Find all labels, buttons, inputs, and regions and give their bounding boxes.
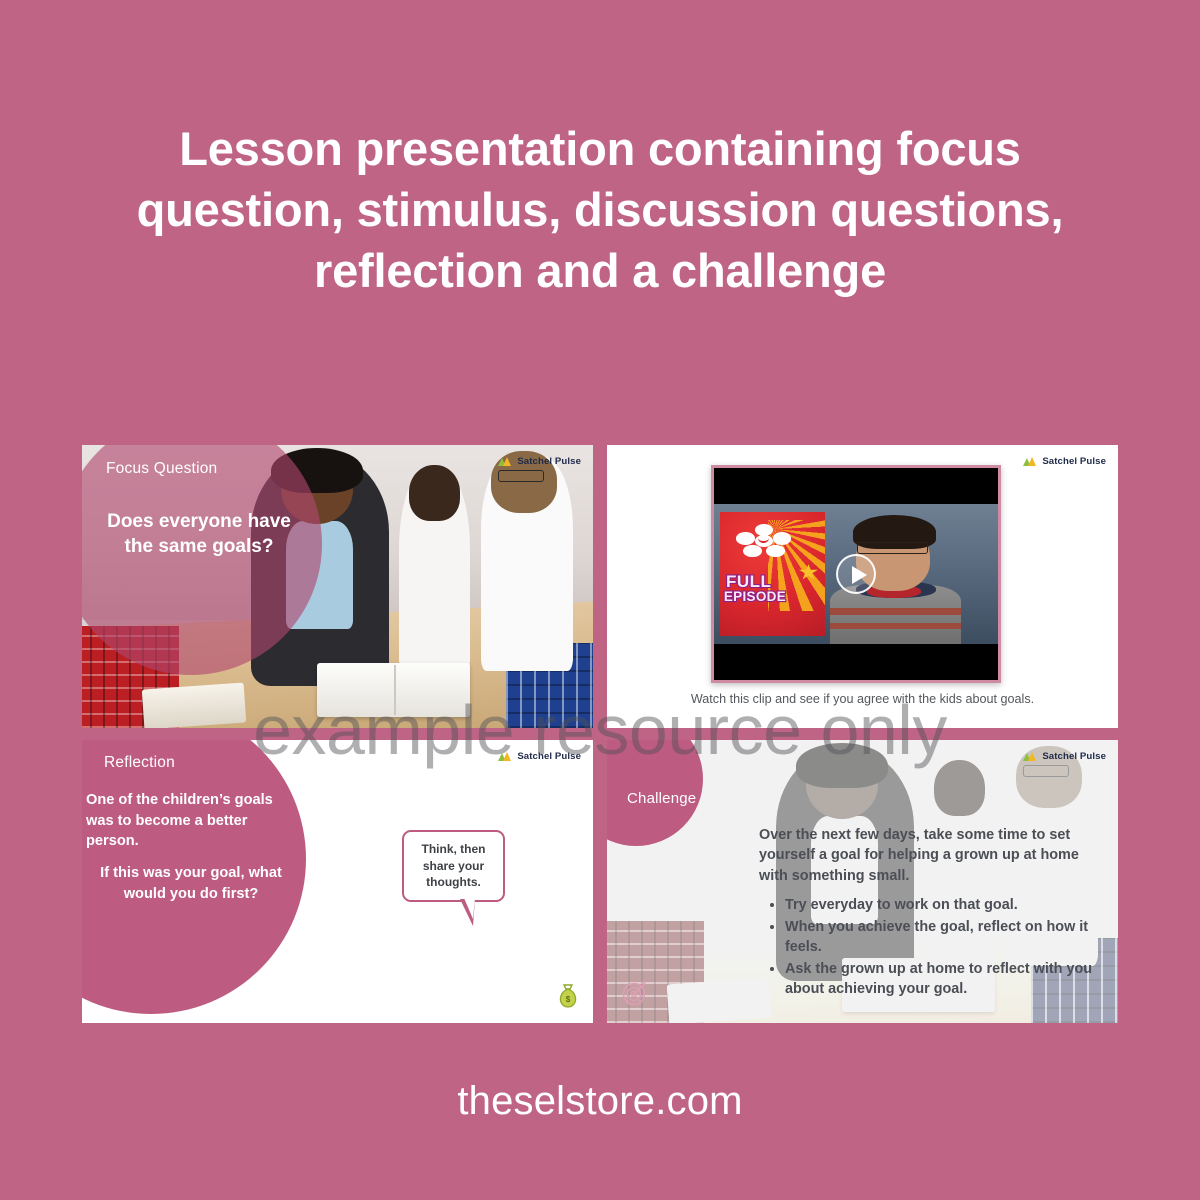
page-title: Lesson presentation containing focus que…: [0, 118, 1200, 301]
list-item: Try everyday to work on that goal.: [785, 895, 1109, 915]
badge-line-2: EPISODE: [724, 589, 786, 604]
bubble-text: Think, then share your thoughts.: [404, 832, 503, 900]
satchel-pulse-logo: Satchel Pulse: [1022, 456, 1106, 467]
reflection-paragraph-1: One of the children’s goals was to becom…: [86, 790, 296, 852]
slide-eyebrow-focus-question: Focus Question: [106, 460, 217, 478]
think-share-bubble: Think, then share your thoughts.: [402, 830, 505, 902]
list-item: When you achieve the goal, reflect on ho…: [785, 917, 1109, 958]
challenge-bullet-list: Try everyday to work on that goal. When …: [785, 895, 1109, 999]
slide-reflection[interactable]: Reflection One of the children’s goals w…: [82, 740, 593, 1023]
mountain-icon: [497, 751, 512, 762]
logo-text: Satchel Pulse: [517, 456, 581, 467]
money-bag-icon: $: [557, 982, 579, 1013]
slide-focus-question[interactable]: Focus Question Does everyone have the sa…: [82, 445, 593, 728]
svg-text:$: $: [566, 995, 571, 1004]
bubble-tail: [460, 899, 475, 926]
play-icon[interactable]: [836, 554, 876, 594]
list-item: Ask the grown up at home to reflect with…: [785, 959, 1109, 1000]
challenge-intro: Over the next few days, take some time t…: [759, 825, 1109, 886]
mountain-icon: [497, 456, 512, 467]
slide-challenge[interactable]: Challenge Over the next few days, take s…: [607, 740, 1118, 1023]
mountain-icon: [1022, 456, 1037, 467]
footer-website: theselstore.com: [0, 1079, 1200, 1124]
video-player[interactable]: FULL EPISODE: [711, 465, 1001, 683]
full-episode-badge: FULL EPISODE: [720, 512, 825, 635]
reflection-paragraph-2: If this was your goal, what would you do…: [86, 863, 296, 904]
video-caption: Watch this clip and see if you agree wit…: [607, 692, 1118, 706]
logo-text: Satchel Pulse: [1042, 751, 1106, 762]
satchel-pulse-logo: Satchel Pulse: [497, 751, 581, 762]
slide-eyebrow-reflection: Reflection: [104, 754, 175, 772]
slide-eyebrow-challenge: Challenge: [627, 790, 696, 807]
challenge-body: Over the next few days, take some time t…: [759, 825, 1109, 1001]
logo-text: Satchel Pulse: [517, 751, 581, 762]
satchel-pulse-logo: Satchel Pulse: [1022, 751, 1106, 762]
slide-grid: Focus Question Does everyone have the sa…: [82, 445, 1118, 1023]
target-icon: [621, 978, 651, 1013]
focus-question-text: Does everyone have the same goals?: [96, 510, 302, 559]
mountain-icon: [1022, 751, 1037, 762]
slide-stimulus[interactable]: FULL EPISODE Watch this clip and see if …: [607, 445, 1118, 728]
satchel-pulse-logo: Satchel Pulse: [497, 456, 581, 467]
logo-text: Satchel Pulse: [1042, 456, 1106, 467]
reflection-body: One of the children’s goals was to becom…: [86, 790, 296, 905]
